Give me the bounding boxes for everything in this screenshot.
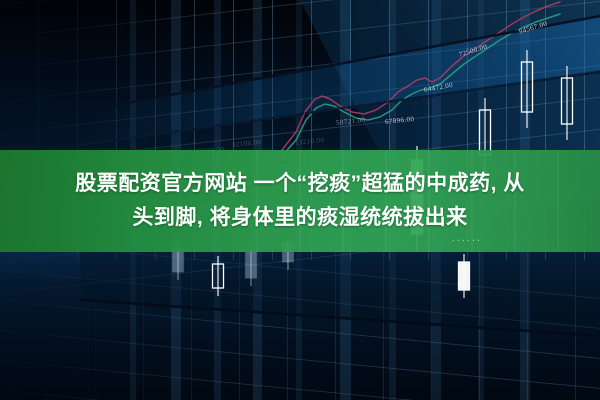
headline-trailing-dots: ...... <box>452 232 482 244</box>
headline-line-1: 股票配资官方网站 一个“挖痰”超猛的中成药, 从 <box>75 169 525 199</box>
candle-body <box>459 262 470 290</box>
candle-body <box>246 252 257 278</box>
banner-image: 94567.0072500.0064472.0067896.0058721.00… <box>0 0 600 400</box>
headline-line-2: 头到脚, 将身体里的痰湿统统拔出来 <box>132 203 467 233</box>
headline-text-block: 股票配资官方网站 一个“挖痰”超猛的中成药, 从 头到脚, 将身体里的痰湿统统拔… <box>0 150 600 252</box>
chart-panel-floor <box>80 252 600 336</box>
